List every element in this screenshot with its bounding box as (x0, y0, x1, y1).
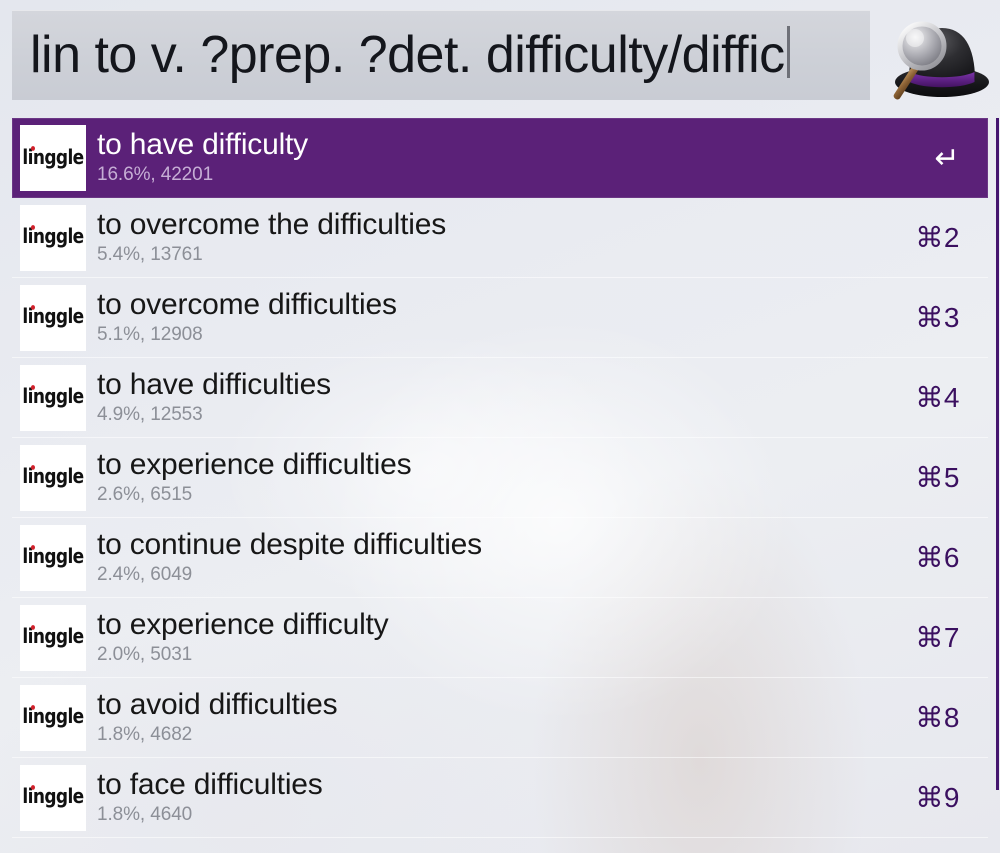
linggle-logo-text: linggle (22, 787, 83, 807)
linggle-logo-dot (31, 705, 35, 710)
linggle-icon: linggle (20, 365, 86, 431)
linggle-icon: linggle (20, 205, 86, 271)
result-subtitle: 1.8%, 4682 (97, 723, 915, 747)
command-9: ⌘9 (915, 781, 988, 814)
command-8: ⌘8 (915, 701, 988, 734)
scrollbar[interactable] (994, 118, 1000, 853)
result-subtitle: 5.4%, 13761 (97, 243, 915, 267)
result-text-8: to avoid difficulties 1.8%, 4682 (97, 689, 915, 747)
linggle-logo-text: linggle (22, 387, 83, 407)
linggle-icon: linggle (20, 445, 86, 511)
linggle-logo-text: linggle (22, 148, 83, 168)
linggle-logo-dot (31, 625, 35, 630)
result-subtitle: 2.6%, 6515 (97, 483, 915, 507)
result-text-2: to overcome the difficulties 5.4%, 13761 (97, 209, 915, 267)
command-2: ⌘2 (915, 221, 988, 254)
linggle-icon: linggle (20, 125, 86, 191)
linggle-logo-dot (31, 225, 35, 230)
result-row-4[interactable]: linggle to have difficulties 4.9%, 12553… (12, 358, 988, 438)
result-subtitle: 4.9%, 12553 (97, 403, 915, 427)
result-text-3: to overcome difficulties 5.1%, 12908 (97, 289, 915, 347)
result-text-9: to face difficulties 1.8%, 4640 (97, 769, 915, 827)
linggle-logo-text: linggle (22, 547, 83, 567)
result-row-3[interactable]: linggle to overcome difficulties 5.1%, 1… (12, 278, 988, 358)
command-6: ⌘6 (915, 541, 988, 574)
result-row-5[interactable]: linggle to experience difficulties 2.6%,… (12, 438, 988, 518)
return-key: ↵ (934, 141, 988, 176)
result-title: to overcome difficulties (97, 289, 915, 321)
linggle-icon: linggle (20, 285, 86, 351)
command-5: ⌘5 (915, 461, 988, 494)
result-subtitle: 2.4%, 6049 (97, 563, 915, 587)
linggle-logo-text: linggle (22, 627, 83, 647)
command-3: ⌘3 (915, 301, 988, 334)
linggle-logo-dot (31, 465, 35, 470)
result-row-1[interactable]: linggle to have difficulty 16.6%, 42201 … (12, 118, 988, 198)
result-title: to avoid difficulties (97, 689, 915, 721)
result-text-4: to have difficulties 4.9%, 12553 (97, 369, 915, 427)
search-input[interactable]: lin to v. ?prep. ?det. difficulty/diffic (12, 10, 870, 100)
alfred-hat-icon (884, 6, 992, 110)
result-subtitle: 1.8%, 4640 (97, 803, 915, 827)
result-subtitle: 16.6%, 42201 (97, 163, 934, 187)
search-query-text: lin to v. ?prep. ?det. difficulty/diffic (12, 29, 785, 81)
result-title: to overcome the difficulties (97, 209, 915, 241)
results-list[interactable]: linggle to have difficulty 16.6%, 42201 … (12, 118, 988, 853)
linggle-logo-dot (31, 146, 35, 151)
result-row-2[interactable]: linggle to overcome the difficulties 5.4… (12, 198, 988, 278)
result-title: to have difficulty (97, 129, 934, 161)
linggle-logo-dot (31, 785, 35, 790)
result-row-9[interactable]: linggle to face difficulties 1.8%, 4640 … (12, 758, 988, 838)
linggle-icon: linggle (20, 685, 86, 751)
linggle-logo-dot (31, 305, 35, 310)
result-title: to continue despite difficulties (97, 529, 915, 561)
text-cursor (787, 26, 790, 78)
command-7: ⌘7 (915, 621, 988, 654)
result-text-6: to continue despite difficulties 2.4%, 6… (97, 529, 915, 587)
linggle-logo-dot (31, 385, 35, 390)
result-text-5: to experience difficulties 2.6%, 6515 (97, 449, 915, 507)
result-row-6[interactable]: linggle to continue despite difficulties… (12, 518, 988, 598)
linggle-logo-text: linggle (22, 467, 83, 487)
alfred-launcher-window: lin to v. ?prep. ?det. difficulty/diffic (0, 0, 1000, 853)
result-title: to experience difficulty (97, 609, 915, 641)
linggle-logo-text: linggle (22, 707, 83, 727)
result-text-7: to experience difficulty 2.0%, 5031 (97, 609, 915, 667)
result-subtitle: 5.1%, 12908 (97, 323, 915, 347)
result-row-7[interactable]: linggle to experience difficulty 2.0%, 5… (12, 598, 988, 678)
linggle-logo-dot (31, 545, 35, 550)
result-title: to have difficulties (97, 369, 915, 401)
linggle-logo-text: linggle (22, 227, 83, 247)
linggle-logo-text: linggle (22, 307, 83, 327)
scrollbar-thumb[interactable] (996, 118, 999, 790)
linggle-icon: linggle (20, 605, 86, 671)
result-title: to face difficulties (97, 769, 915, 801)
result-row-8[interactable]: linggle to avoid difficulties 1.8%, 4682… (12, 678, 988, 758)
result-subtitle: 2.0%, 5031 (97, 643, 915, 667)
linggle-icon: linggle (20, 525, 86, 591)
result-text-1: to have difficulty 16.6%, 42201 (97, 129, 934, 187)
linggle-icon: linggle (20, 765, 86, 831)
command-4: ⌘4 (915, 381, 988, 414)
result-title: to experience difficulties (97, 449, 915, 481)
